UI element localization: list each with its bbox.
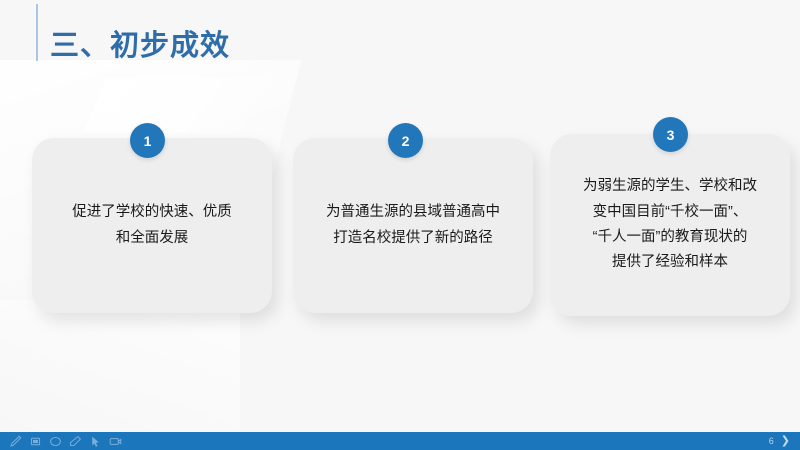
cursor-arrow-icon[interactable] (89, 435, 102, 448)
title-accent-rule (36, 4, 38, 61)
outcome-card-3: 为弱生源的学生、学校和改 变中国目前“千校一面”、 “千人一面”的教育现状的 提… (550, 134, 790, 316)
page-number: 6 (769, 436, 774, 446)
pen-icon[interactable] (9, 435, 22, 448)
presentation-toolbar: 6 ❯ (0, 432, 800, 450)
camera-icon[interactable] (109, 435, 122, 448)
outcome-card-3-badge: 3 (653, 117, 688, 152)
outcome-card-2-badge: 2 (388, 123, 423, 158)
highlighter-icon[interactable] (29, 435, 42, 448)
outcome-card-2-text: 为普通生源的县域普通高中 打造名校提供了新的路径 (312, 200, 514, 251)
toolbar-tool-group (0, 435, 122, 448)
outcome-card-1-badge: 1 (130, 123, 165, 158)
eraser-icon[interactable] (49, 435, 62, 448)
outcome-card-2: 为普通生源的县域普通高中 打造名校提供了新的路径 (293, 138, 533, 313)
outcome-card-3-text: 为弱生源的学生、学校和改 变中国目前“千校一面”、 “千人一面”的教育现状的 提… (569, 174, 771, 276)
page-title: 三、初步成效 (50, 22, 230, 64)
slide-canvas: 三、初步成效 促进了学校的快速、优质 和全面发展 1 为普通生源的县域普通高中 … (0, 0, 800, 450)
background-decoration-bottom (0, 300, 240, 435)
background-decoration-ribbon (84, 78, 276, 133)
outcome-card-1-text: 促进了学校的快速、优质 和全面发展 (58, 200, 246, 251)
tag-icon[interactable] (69, 435, 82, 448)
outcome-card-1: 促进了学校的快速、优质 和全面发展 (32, 138, 272, 313)
toolbar-page-area: 6 ❯ (769, 436, 790, 447)
chevron-right-icon[interactable]: ❯ (781, 436, 790, 447)
